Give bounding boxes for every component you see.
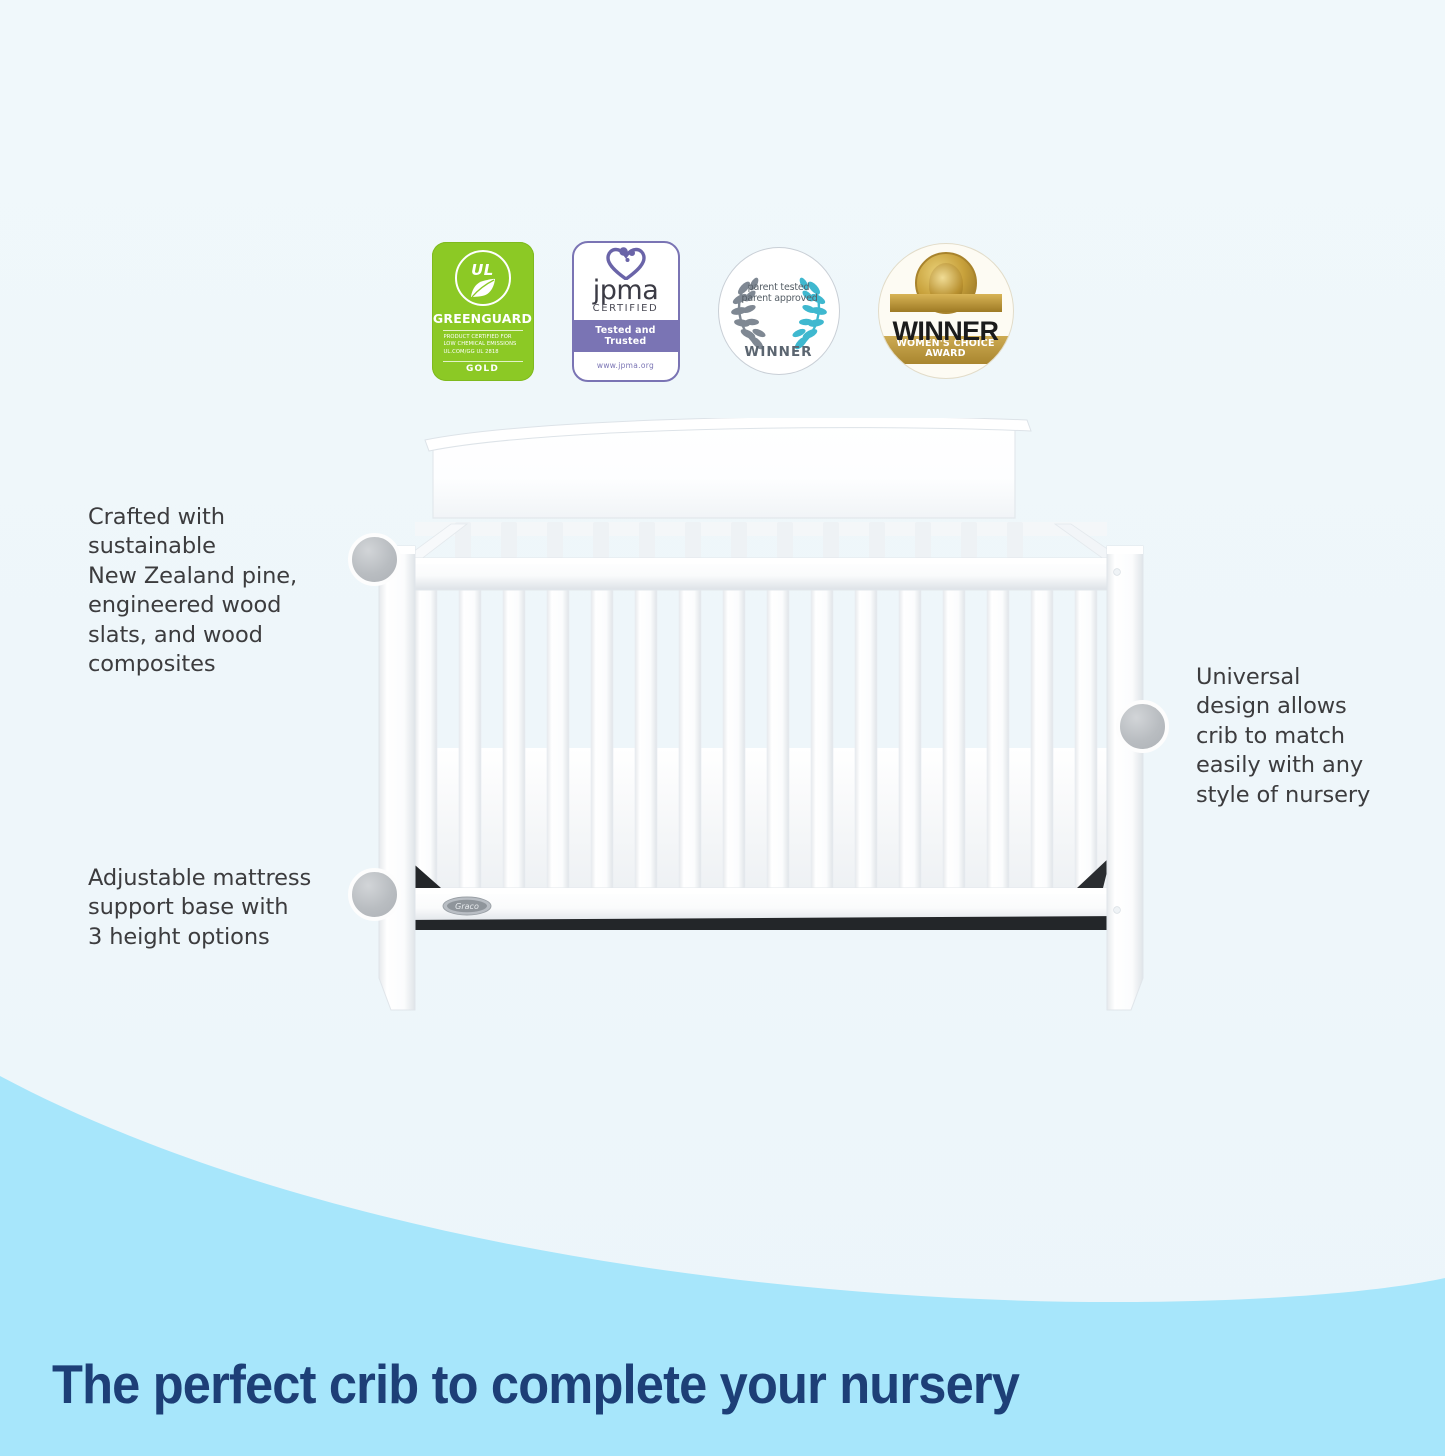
callout-adjustable-mattress-text: Adjustable mattress support base with 3 … xyxy=(88,864,378,952)
badge-jpma: jpma CERTIFIED Tested and Trusted www.jp… xyxy=(572,241,680,382)
divider xyxy=(443,330,523,331)
ptpa-wordmark: parent tested parent approved xyxy=(742,282,816,304)
crib-illustration: Graco xyxy=(355,418,1165,1038)
jpma-wordmark: jpma xyxy=(593,280,659,302)
greenguard-level: GOLD xyxy=(466,364,499,374)
jpma-tagline: Tested and Trusted xyxy=(574,320,678,352)
infographic-canvas: UL GREENGUARD PRODUCT CERTIFIED FOR LOW … xyxy=(0,0,1445,1456)
wca-band-line-2: AWARD xyxy=(879,349,1013,360)
jpma-url: www.jpma.org xyxy=(597,361,654,370)
callout-dot-crafted xyxy=(348,533,401,586)
jpma-certified-label: CERTIFIED xyxy=(593,303,659,314)
product-image-crib: Graco xyxy=(355,418,1165,1038)
badge-womens-choice-award: WINNER WOMEN'S CHOICE AWARD xyxy=(878,243,1014,379)
leaf-icon xyxy=(470,278,496,298)
greenguard-subtext: PRODUCT CERTIFIED FOR LOW CHEMICAL EMISS… xyxy=(444,334,522,357)
badge-greenguard: UL GREENGUARD PRODUCT CERTIFIED FOR LOW … xyxy=(432,242,534,381)
callout-dot-adjustable-mattress xyxy=(348,868,401,921)
svg-text:Graco: Graco xyxy=(455,902,479,911)
ptpa-award-label: WINNER xyxy=(744,344,812,360)
greenguard-name: GREENGUARD xyxy=(433,311,532,326)
certification-badge-row: UL GREENGUARD PRODUCT CERTIFIED FOR LOW … xyxy=(0,236,1445,386)
divider xyxy=(443,361,523,362)
ul-label: UL xyxy=(471,261,494,279)
badge-parent-tested-parent-approved: parent tested parent approved WINNER xyxy=(718,247,840,375)
ul-mark-icon: UL xyxy=(455,250,511,306)
ribbon-icon xyxy=(890,294,1002,312)
wca-award-label: WINNER xyxy=(893,316,999,347)
callout-dot-universal-design xyxy=(1116,700,1169,753)
callout-universal-design-text: Universal design allows crib to match ea… xyxy=(1196,663,1426,810)
callout-crafted-text: Crafted with sustainable New Zealand pin… xyxy=(88,503,358,680)
footer-headline: The perfect crib to complete your nurser… xyxy=(52,1352,1019,1416)
ptpa-line-1: parent tested xyxy=(742,282,816,293)
ptpa-line-2: parent approved xyxy=(742,293,816,304)
